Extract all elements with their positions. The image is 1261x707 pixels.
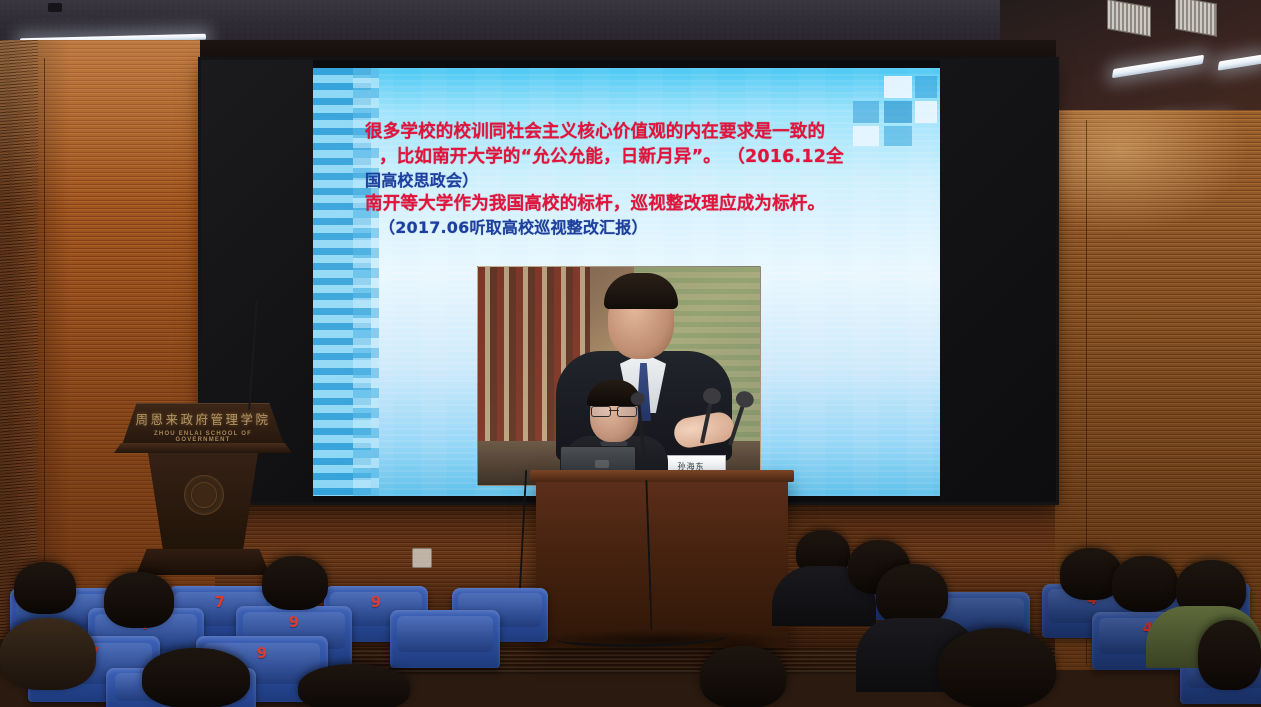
audience-head-12 — [1112, 556, 1178, 612]
seat-number: 9 — [257, 644, 267, 662]
seat-row2-3[interactable] — [390, 610, 500, 668]
audience-head-4 — [262, 556, 328, 610]
slide-deco-square-2 — [915, 76, 937, 98]
seat-cushion — [397, 616, 494, 652]
seat-number: 9 — [289, 613, 299, 631]
seat-number: 7 — [215, 593, 225, 611]
speaker-table-top — [530, 470, 794, 482]
audience-head-9 — [876, 564, 948, 626]
audience-head-14 — [1198, 620, 1261, 690]
wall-seam-left — [44, 58, 45, 648]
audience-head-10 — [938, 628, 1056, 707]
screen-dark-right — [940, 60, 1056, 502]
seat-number: 9 — [371, 593, 381, 611]
podium-base — [136, 549, 270, 575]
audience-head-6 — [298, 664, 410, 707]
slide-deco-square-1 — [884, 76, 912, 98]
podium-name-en: ZHOU ENLAI SCHOOL OF GOVERNMENT — [128, 431, 278, 443]
audience-head-2 — [104, 572, 174, 628]
podium-name-cn: 周恩来政府管理学院 — [128, 409, 278, 428]
slide-line-5: （2017.06听取高校巡视整改汇报） — [365, 217, 925, 240]
slide-line-1: 很多学校的校训同社会主义核心价值观的内在要求是一致的 — [365, 120, 925, 145]
podium-signage: 周恩来政府管理学院 ZHOU ENLAI SCHOOL OF GOVERNMEN… — [128, 409, 278, 443]
presenter-glasses-icon — [591, 406, 637, 415]
audience-head-5 — [142, 648, 250, 707]
laptop-logo-icon — [595, 460, 609, 468]
wall-left-corner — [0, 40, 38, 640]
lecture-hall-photo: 很多学校的校训同社会主义核心价值观的内在要求是一致的 ，比如南开大学的“允公允能… — [0, 0, 1261, 707]
slide-line-4: 南开等大学作为我国高校的标杆，巡视整改理应成为标杆。 — [365, 192, 925, 217]
speaker-table — [536, 478, 788, 648]
ceiling-fixture-icon — [48, 3, 62, 12]
podium-emblem-icon — [184, 475, 224, 515]
podium-lip — [114, 443, 292, 453]
wall-socket-1-icon — [412, 548, 432, 568]
audience-head-1 — [14, 562, 76, 614]
audience-head-15 — [700, 646, 786, 707]
slide-line-2: ，比如南开大学的“允公允能，日新月异”。 （2016.12全 — [365, 145, 925, 170]
slide-line-3: 国高校思政会） — [365, 170, 925, 193]
audience-head-3 — [0, 618, 96, 690]
slide-text-block: 很多学校的校训同社会主义核心价值观的内在要求是一致的 ，比如南开大学的“允公允能… — [365, 120, 925, 240]
